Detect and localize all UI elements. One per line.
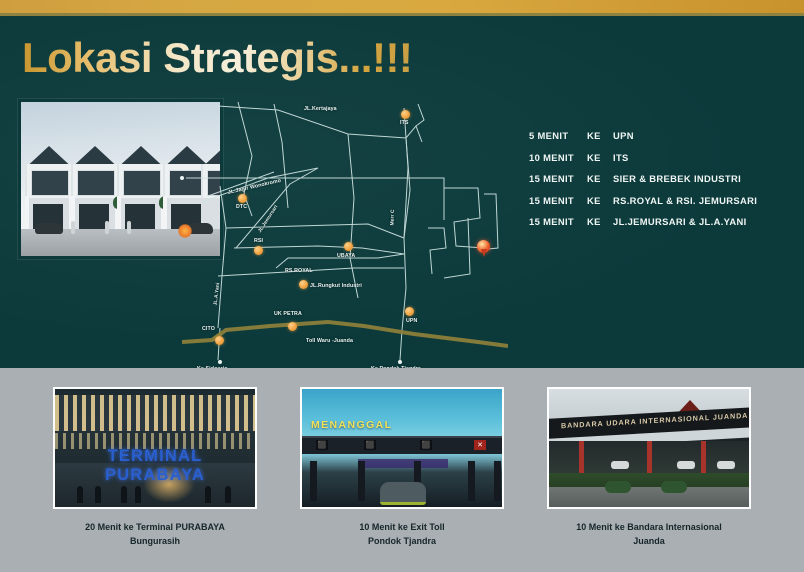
map-label-upn: UPN: [406, 318, 417, 324]
map-label-ubaya: UBAYA: [337, 253, 355, 259]
render-house: [71, 146, 119, 230]
map-endpoint-dot: [180, 176, 184, 180]
page-title: Lokasi Strategis...!!!: [22, 34, 412, 82]
photo-card-exit-toll: MENANGGAL ⬛ ⬛ ⬛ ✕ 10 Menit ke Exit Toll …: [300, 387, 504, 548]
travel-time-destination: UPN: [613, 130, 791, 141]
travel-time-minutes: 15 MENIT: [529, 216, 587, 227]
map-label-rsi: RSI: [254, 238, 263, 244]
photo-caption-line1: 20 Menit ke Terminal PURABAYA: [85, 522, 225, 532]
toll-lane-closed-icon: ✕: [474, 440, 486, 450]
map-marker-ubaya[interactable]: [344, 242, 353, 251]
photo-sign-text: MENANGGAL: [311, 419, 392, 431]
map-label-toll-waru-juanda: Toll Waru -Juanda: [306, 338, 353, 344]
photo-caption-line1: 10 Menit ke Bandara Internasional: [576, 522, 722, 532]
photo-strip: TERMINAL PURABAYA 20 Menit ke Terminal P…: [0, 368, 804, 572]
render-person: [71, 221, 75, 234]
render-car: [35, 223, 63, 234]
map-label-rs-royal: RS.ROYAL: [285, 268, 313, 274]
map-pin-project-location[interactable]: [477, 240, 490, 257]
map-marker-upn[interactable]: [405, 307, 414, 316]
map-label-jl-kertajaya: JL.Kertajaya: [304, 106, 337, 112]
travel-time-ke: KE: [587, 195, 613, 206]
toll-lane-sign-icon: ⬛: [364, 440, 376, 450]
photo-terminal-purabaya: TERMINAL PURABAYA: [53, 387, 257, 509]
map-label-dtc: DTC: [236, 204, 247, 210]
map-roads: [178, 98, 508, 378]
photo-bandara-juanda: BANDARA UDARA INTERNASIONAL JUANDA: [547, 387, 751, 509]
photo-caption-line1: 10 Menit ke Exit Toll: [359, 522, 444, 532]
travel-time-row: 15 MENIT KE RS.ROYAL & RSI. JEMURSARI: [529, 195, 791, 206]
map-marker-rs-royal[interactable]: [299, 280, 308, 289]
travel-time-destination: ITS: [613, 152, 791, 163]
slide-root: Lokasi Strategis...!!!: [0, 0, 804, 572]
travel-time-minutes: 15 MENIT: [529, 195, 587, 206]
photo-card-juanda: BANDARA UDARA INTERNASIONAL JUANDA 10 Me…: [547, 387, 751, 548]
travel-time-list: 5 MENIT KE UPN 10 MENIT KE ITS 15 MENIT …: [529, 130, 791, 238]
toll-lane-sign-icon: ⬛: [420, 440, 432, 450]
map-marker-uk-petra[interactable]: [288, 322, 297, 331]
photo-caption: 10 Menit ke Bandara Internasional Juanda: [547, 520, 751, 548]
map-label-cito: CITO: [202, 326, 215, 332]
map-endpoint-dot: [218, 360, 222, 364]
map-marker-cito[interactable]: [215, 336, 224, 345]
travel-time-minutes: 15 MENIT: [529, 173, 587, 184]
travel-time-destination: SIER & BREBEK INDUSTRI: [613, 173, 791, 184]
map-marker-its[interactable]: [401, 110, 410, 119]
toll-lane-sign-icon: ⬛: [316, 440, 328, 450]
map-label-its: ITS: [400, 120, 409, 126]
travel-time-ke: KE: [587, 173, 613, 184]
hero-section: Lokasi Strategis...!!!: [0, 16, 804, 368]
travel-time-ke: KE: [587, 152, 613, 163]
render-person: [105, 221, 109, 234]
photo-caption-line2: Bungurasih: [130, 536, 180, 546]
travel-time-minutes: 5 MENIT: [529, 130, 587, 141]
travel-time-row: 15 MENIT KE SIER & BREBEK INDUSTRI: [529, 173, 791, 184]
travel-time-row: 5 MENIT KE UPN: [529, 130, 791, 141]
travel-time-minutes: 10 MENIT: [529, 152, 587, 163]
map-marker-dtc[interactable]: [238, 194, 247, 203]
travel-time-destination: RS.ROYAL & RSI. JEMURSARI: [613, 195, 791, 206]
photo-card-purabaya: TERMINAL PURABAYA 20 Menit ke Terminal P…: [53, 387, 257, 548]
map-marker-rsi[interactable]: [254, 246, 263, 255]
render-house: [25, 146, 73, 230]
render-person: [127, 221, 131, 234]
render-house: [117, 146, 165, 230]
photo-toll-gate-menanggal: MENANGGAL ⬛ ⬛ ⬛ ✕: [300, 387, 504, 509]
map-label-jl-rungkut-industri: JL.Rungkut Industri: [310, 283, 362, 289]
map-label-uk-petra: UK PETRA: [274, 311, 302, 317]
map-endpoint-dot: [398, 360, 402, 364]
photo-sign-text: TERMINAL PURABAYA: [55, 447, 255, 485]
photo-caption-line2: Pondok Tjandra: [368, 536, 436, 546]
photo-caption-line2: Juanda: [633, 536, 665, 546]
travel-time-row: 10 MENIT KE ITS: [529, 152, 791, 163]
top-gold-bar: [0, 0, 804, 13]
travel-time-ke: KE: [587, 216, 613, 227]
location-map[interactable]: ITS DTC RSI UBAYA RS.ROYAL UPN UK PETRA …: [178, 98, 508, 378]
map-label-merr-c: Merr C: [391, 209, 397, 225]
travel-time-row: 15 MENIT KE JL.JEMURSARI & JL.A.YANI: [529, 216, 791, 227]
travel-time-ke: KE: [587, 130, 613, 141]
photo-caption: 20 Menit ke Terminal PURABAYA Bungurasih: [53, 520, 257, 548]
photo-caption: 10 Menit ke Exit Toll Pondok Tjandra: [300, 520, 504, 548]
travel-time-destination: JL.JEMURSARI & JL.A.YANI: [613, 216, 791, 227]
photo-car: [380, 482, 426, 505]
